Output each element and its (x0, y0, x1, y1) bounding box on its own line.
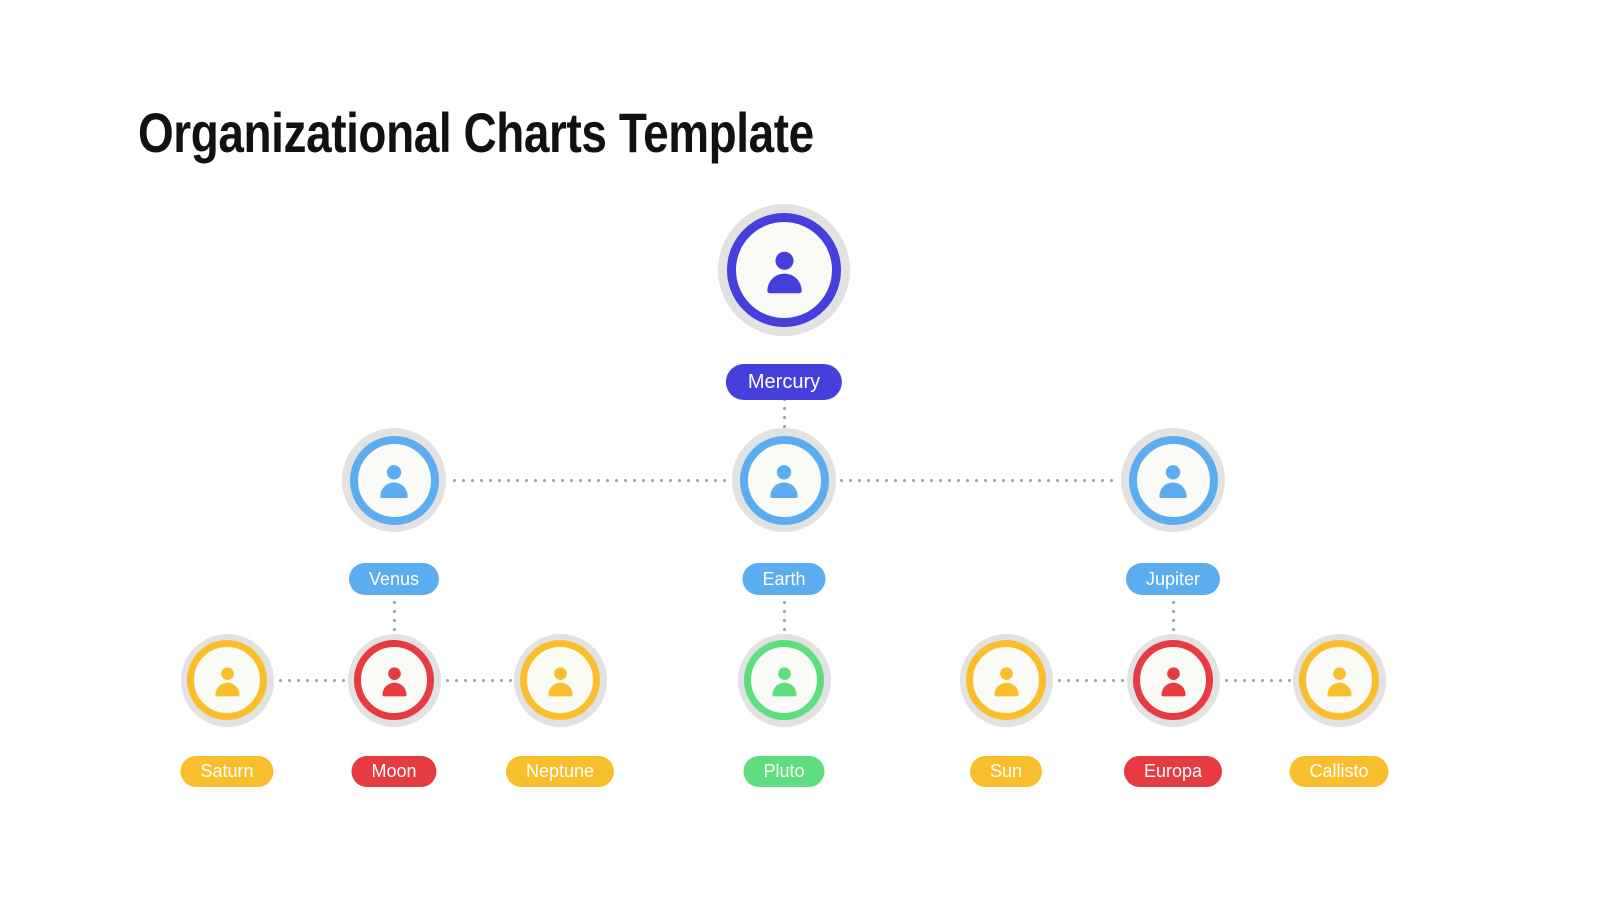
person-icon (758, 244, 811, 297)
org-node-avatar-circle[interactable] (342, 428, 446, 532)
org-node-label-earth[interactable]: Earth (742, 563, 825, 595)
org-node-label-moon[interactable]: Moon (351, 756, 436, 787)
org-node-color-ring (1299, 640, 1379, 720)
org-node-color-ring (350, 436, 439, 525)
person-icon (766, 662, 803, 699)
org-node-color-ring (966, 640, 1046, 720)
connector-europa-callisto (1222, 679, 1291, 682)
org-node-avatar-circle[interactable] (1127, 634, 1220, 727)
person-icon (373, 459, 415, 501)
org-node-avatar-circle[interactable] (1121, 428, 1225, 532)
org-node-color-ring (1129, 436, 1218, 525)
person-icon (1321, 662, 1358, 699)
org-node-label-pluto[interactable]: Pluto (743, 756, 824, 787)
org-node-label-sun[interactable]: Sun (970, 756, 1042, 787)
org-node-color-ring (520, 640, 600, 720)
org-node-label-callisto[interactable]: Callisto (1289, 756, 1388, 787)
person-icon (763, 459, 805, 501)
org-node-color-ring (740, 436, 829, 525)
org-node-avatar-circle[interactable] (718, 204, 850, 336)
org-node-avatar-circle[interactable] (738, 634, 831, 727)
org-node-avatar-circle[interactable] (348, 634, 441, 727)
org-node-color-ring (727, 213, 841, 327)
org-node-avatar-circle[interactable] (181, 634, 274, 727)
person-icon (542, 662, 579, 699)
person-icon (376, 662, 413, 699)
org-node-label-europa[interactable]: Europa (1124, 756, 1222, 787)
connector-moon-neptune (443, 679, 512, 682)
org-node-label-jupiter[interactable]: Jupiter (1126, 563, 1220, 595)
org-node-color-ring (744, 640, 824, 720)
org-node-avatar-circle[interactable] (514, 634, 607, 727)
org-node-avatar-circle[interactable] (1293, 634, 1386, 727)
org-node-color-ring (187, 640, 267, 720)
org-node-avatar-circle[interactable] (960, 634, 1053, 727)
org-node-label-mercury[interactable]: Mercury (726, 364, 842, 400)
org-node-avatar-circle[interactable] (732, 428, 836, 532)
org-node-label-neptune[interactable]: Neptune (506, 756, 614, 787)
person-icon (1155, 662, 1192, 699)
org-node-color-ring (354, 640, 434, 720)
org-node-label-saturn[interactable]: Saturn (180, 756, 273, 787)
organizational-chart: MercuryVenusEarthJupiterSaturnMoonNeptun… (0, 0, 1600, 900)
org-node-color-ring (1133, 640, 1213, 720)
connector-saturn-moon (276, 679, 346, 682)
person-icon (209, 662, 246, 699)
person-icon (988, 662, 1025, 699)
person-icon (1152, 459, 1194, 501)
connector-sun-europa (1055, 679, 1125, 682)
org-node-label-venus[interactable]: Venus (349, 563, 439, 595)
